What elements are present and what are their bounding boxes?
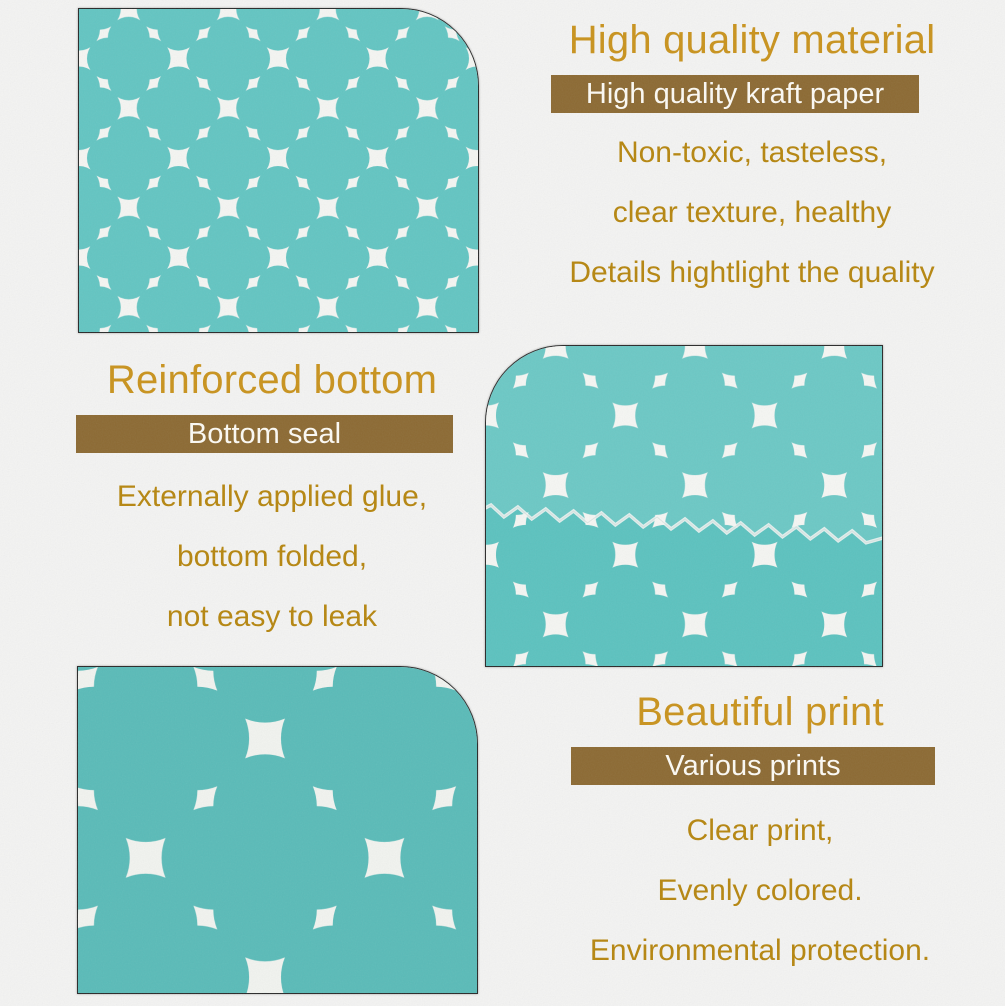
section-reinforced-bottom: Reinforced bottom Bottom seal Externally… [62, 358, 482, 647]
section-high-quality-material: High quality material High quality kraft… [512, 18, 992, 303]
kraft-paper-closeup-graphic [79, 9, 478, 332]
print-closeup-graphic [78, 667, 477, 993]
section-line: Clear print, [530, 801, 990, 861]
bottom-seal-closeup-graphic [486, 346, 882, 666]
photo-print-closeup [77, 666, 478, 994]
section-banner: Bottom seal [76, 415, 453, 453]
section-beautiful-print: Beautiful print Various prints Clear pri… [530, 690, 990, 981]
section-line: Details hightlight the quality [512, 243, 992, 303]
photo-kraft-paper-closeup [78, 8, 479, 333]
infographic-page: High quality material High quality kraft… [0, 0, 1005, 1006]
section-lines: Non-toxic, tasteless, clear texture, hea… [512, 123, 992, 303]
section-line: Environmental protection. [530, 921, 990, 981]
section-lines: Externally applied glue, bottom folded, … [62, 467, 482, 647]
photo-bottom-seal-closeup [485, 345, 883, 667]
section-line: bottom folded, [62, 527, 482, 587]
section-line: clear texture, healthy [512, 183, 992, 243]
section-heading: Beautiful print [530, 690, 990, 735]
section-banner: High quality kraft paper [551, 75, 919, 113]
section-lines: Clear print, Evenly colored. Environment… [530, 801, 990, 981]
section-heading: Reinforced bottom [62, 358, 482, 403]
section-banner: Various prints [571, 747, 935, 785]
section-line: not easy to leak [62, 587, 482, 647]
section-line: Externally applied glue, [62, 467, 482, 527]
section-heading: High quality material [512, 18, 992, 63]
section-line: Evenly colored. [530, 861, 990, 921]
section-line: Non-toxic, tasteless, [512, 123, 992, 183]
